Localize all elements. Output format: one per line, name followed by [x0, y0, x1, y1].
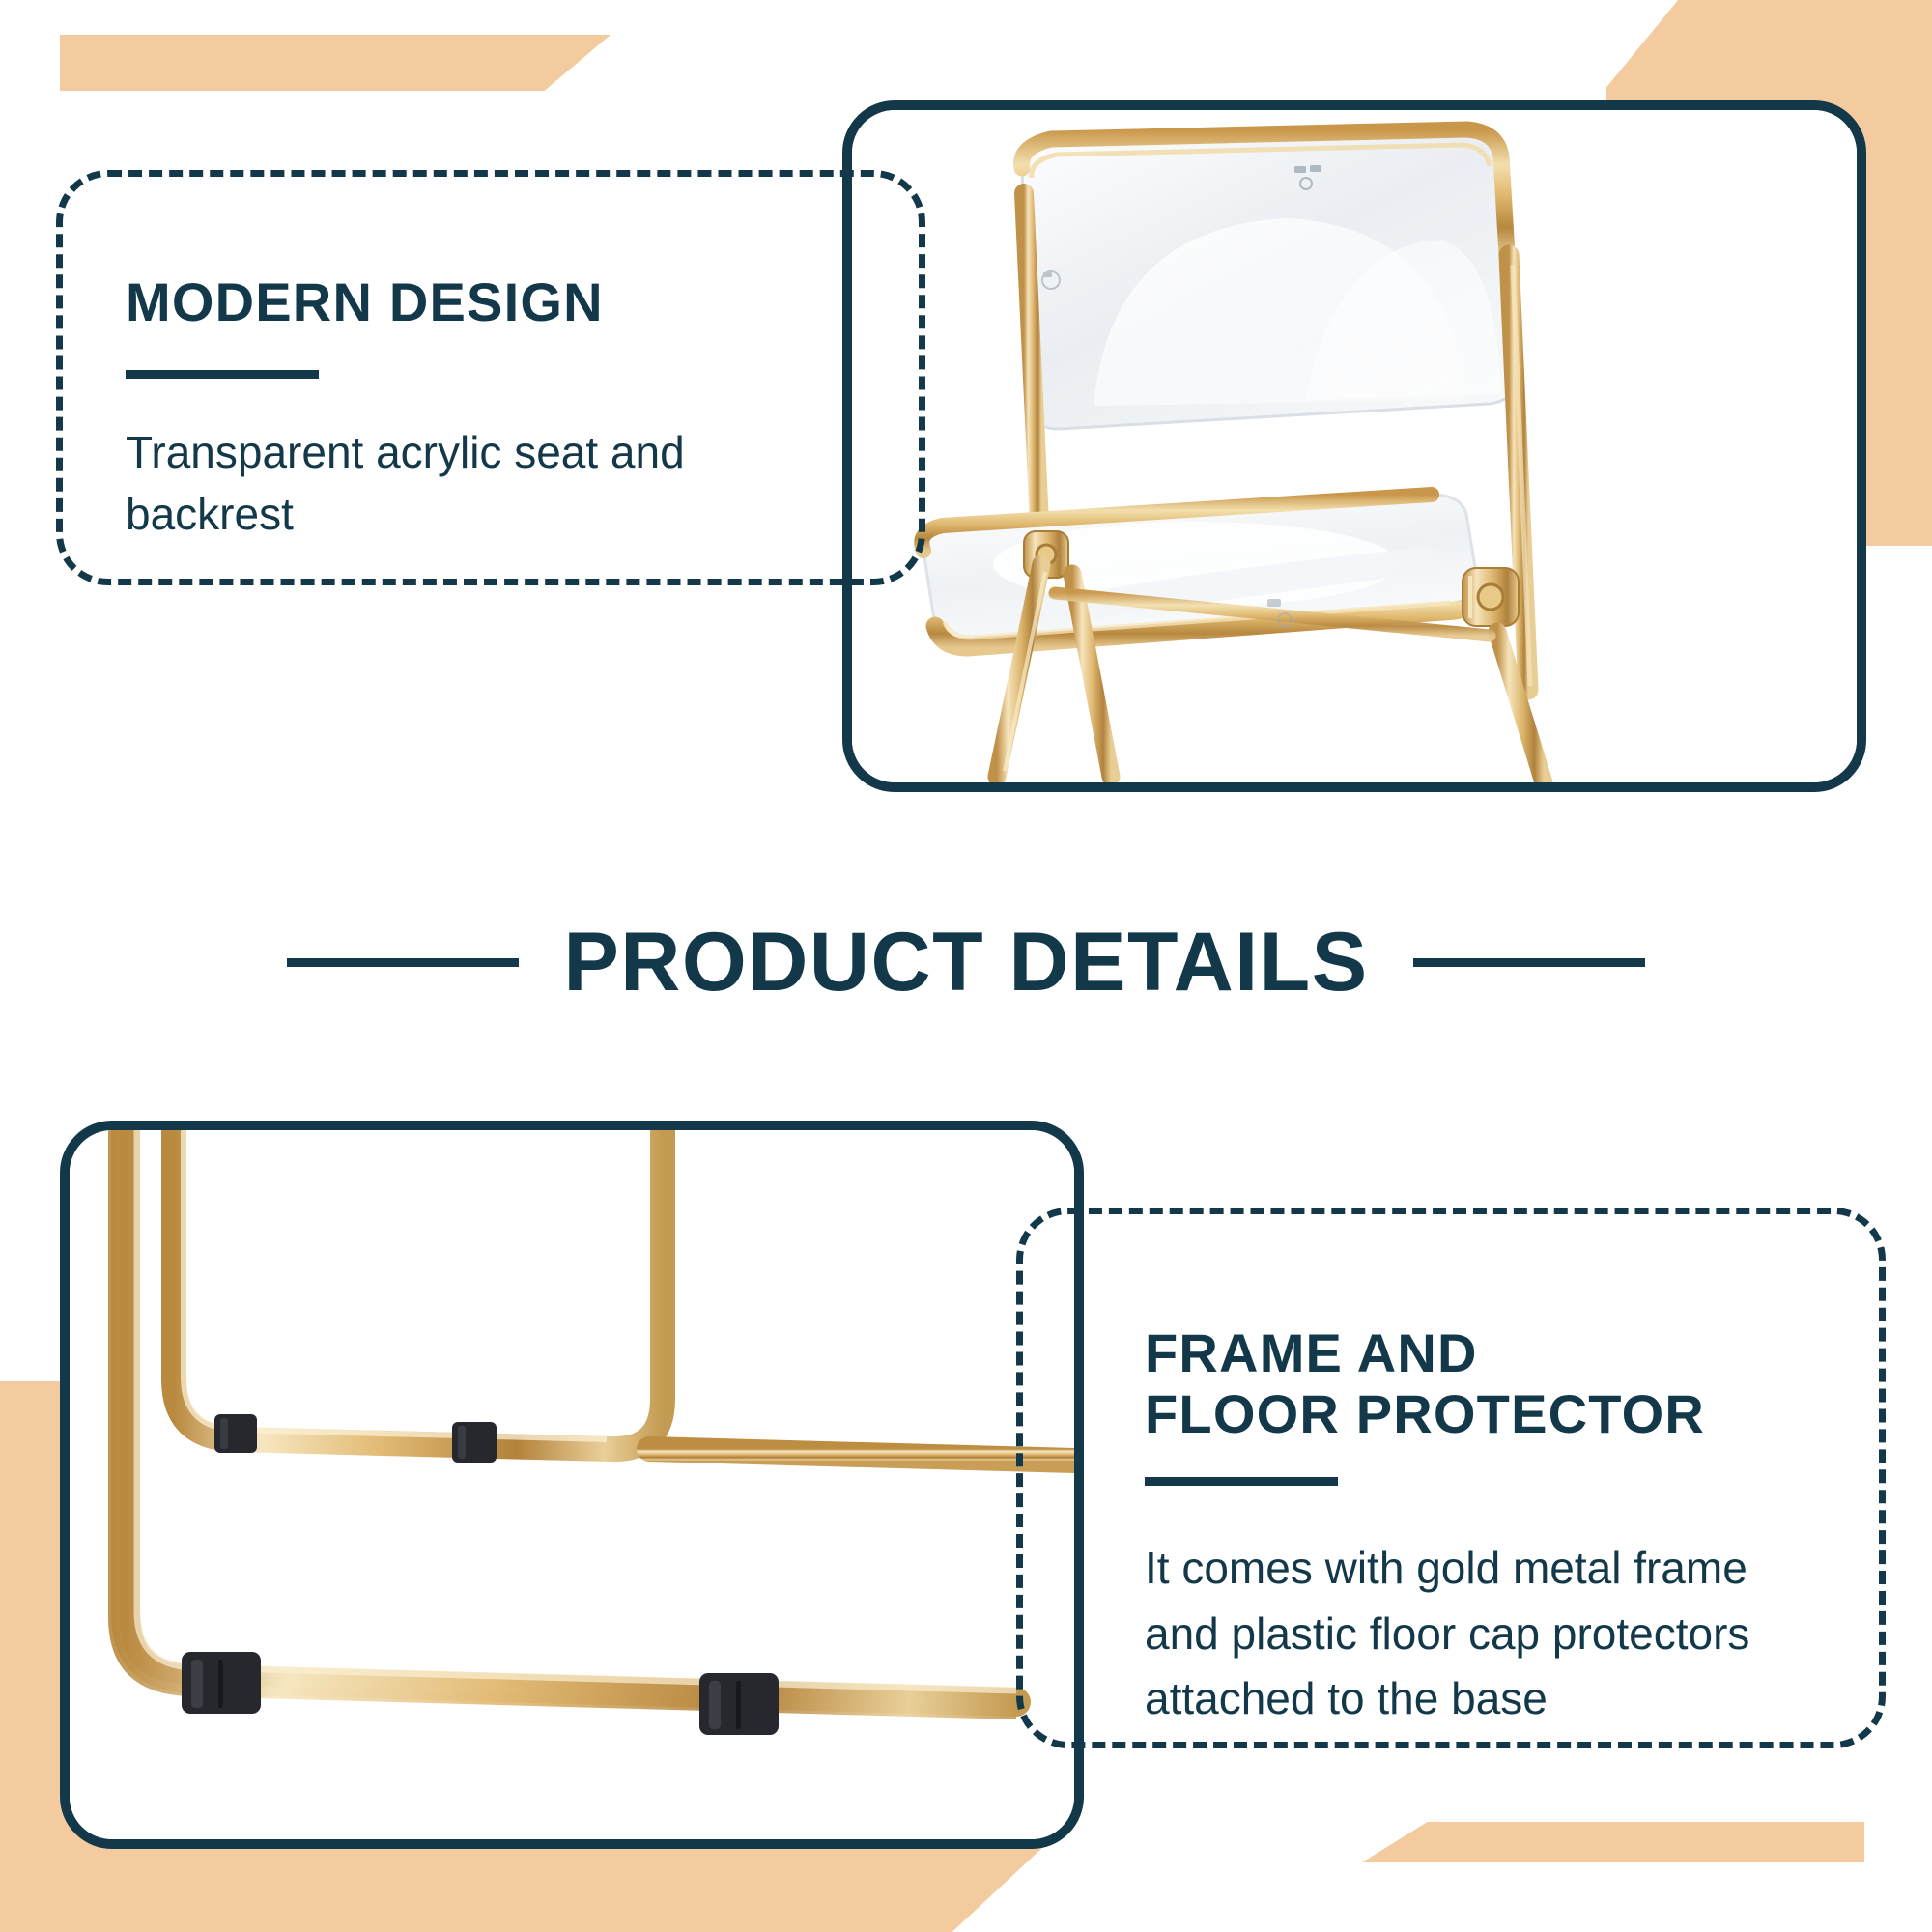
chair-photo [852, 110, 1857, 782]
product-photo-card-chair [842, 100, 1866, 792]
card-title-modern-design: MODERN DESIGN [126, 272, 821, 333]
section-rule-right [1413, 958, 1645, 967]
infographic-canvas: MODERN DESIGN Transparent acrylic seat a… [0, 0, 1932, 1932]
info-card-frame-floor-body: FRAME AND FLOOR PROTECTOR It comes with … [1145, 1323, 1821, 1731]
decoration-top-left-bar [60, 35, 611, 91]
frame-photo [70, 1130, 1074, 1839]
card-description-frame-floor: It comes with gold metal frame and plast… [1145, 1536, 1821, 1730]
card-divider-rule [126, 370, 319, 379]
decoration-bottom-right-bar [1362, 1822, 1864, 1862]
card-divider-rule [1145, 1477, 1338, 1486]
card-title-line-2: FLOOR PROTECTOR [1145, 1384, 1821, 1445]
section-heading: PRODUCT DETAILS [0, 904, 1932, 1020]
card-title-line-1: FRAME AND [1145, 1323, 1821, 1384]
product-photo-card-frame [60, 1121, 1084, 1849]
section-heading-title: PRODUCT DETAILS [563, 915, 1368, 1010]
info-card-modern-design-body: MODERN DESIGN Transparent acrylic seat a… [126, 272, 821, 546]
card-description-modern-design: Transparent acrylic seat and backrest [126, 421, 821, 546]
section-rule-left [287, 958, 519, 967]
card-title-frame-floor: FRAME AND FLOOR PROTECTOR [1145, 1323, 1821, 1444]
